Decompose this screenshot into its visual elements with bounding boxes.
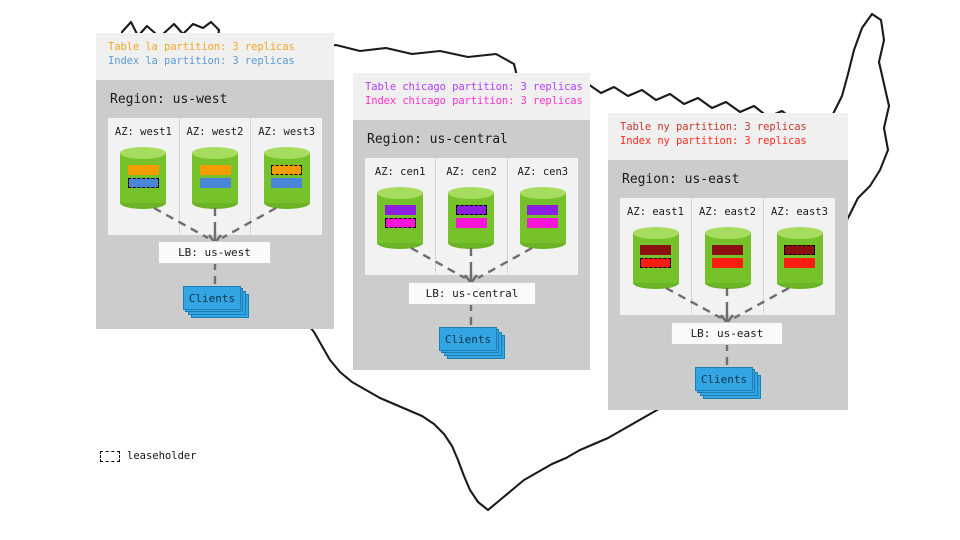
region-panel-us-east: Region: us-east AZ: east1 AZ: east2 [608,160,848,410]
clients-label-us-east: Clients [701,373,747,386]
region-panel-us-central: Region: us-central AZ: cen1 AZ: cen2 [353,120,590,370]
index-partition-text-us-west: Index la partition: 3 replicas [108,55,322,69]
clients-label-us-west: Clients [189,292,235,305]
load-balancer-us-east[interactable]: LB: us-east [671,322,783,345]
table-partition-text-us-central: Table chicago partition: 3 replicas [365,81,578,95]
region-header-us-central: Table chicago partition: 3 replicas Inde… [353,73,590,120]
legend: leaseholder [100,450,197,462]
index-partition-text-us-central: Index chicago partition: 3 replicas [365,95,578,109]
index-partition-text-us-east: Index ny partition: 3 replicas [620,135,836,149]
table-partition-text-us-east: Table ny partition: 3 replicas [620,121,836,135]
clients-label-us-central: Clients [445,333,491,346]
lb-label-us-east: LB: us-east [691,327,764,340]
clients-us-central[interactable]: Clients [439,327,505,359]
load-balancer-us-central[interactable]: LB: us-central [408,282,536,305]
region-header-us-west: Table la partition: 3 replicas Index la … [96,33,334,80]
clients-us-east[interactable]: Clients [695,367,761,399]
clients-us-west[interactable]: Clients [183,286,249,318]
lb-label-us-west: LB: us-west [178,246,251,259]
diagram-canvas: Region: us-west AZ: west1 AZ: west2 [0,0,960,540]
load-balancer-us-west[interactable]: LB: us-west [158,241,271,264]
legend-label: leaseholder [127,450,197,462]
region-header-us-east: Table ny partition: 3 replicas Index ny … [608,113,848,160]
table-partition-text-us-west: Table la partition: 3 replicas [108,41,322,55]
region-panel-us-west: Region: us-west AZ: west1 AZ: west2 [96,80,334,329]
lb-label-us-central: LB: us-central [426,287,519,300]
dashed-rect-icon [100,451,120,462]
